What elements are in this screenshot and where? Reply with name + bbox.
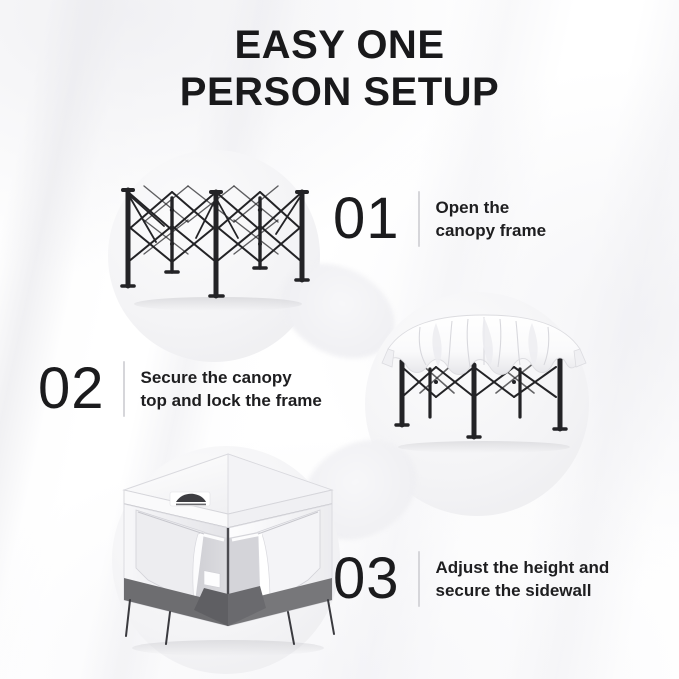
- step-row-02: 02 Secure the canopy top and lock the fr…: [38, 360, 322, 418]
- step-number-01: 01: [333, 190, 400, 248]
- step-text-03-line1: Adjust the height and: [436, 556, 610, 579]
- step-number-02: 02: [38, 360, 105, 418]
- canopy-top-illustration: [380, 305, 590, 455]
- step-text-01-line2: canopy frame: [436, 219, 547, 242]
- step-text-03: Adjust the height and secure the sidewal…: [436, 556, 610, 602]
- step-text-01-line1: Open the: [436, 196, 547, 219]
- step-text-02-line1: Secure the canopy: [141, 366, 322, 389]
- title-line-1: EASY ONE: [0, 22, 679, 69]
- step-row-01: 01 Open the canopy frame: [333, 190, 546, 248]
- infographic-canvas: EASY ONE PERSON SETUP: [0, 0, 679, 679]
- title-line-2: PERSON SETUP: [0, 69, 679, 116]
- canopy-frame-illustration: [110, 168, 330, 313]
- step-text-03-line2: secure the sidewall: [436, 579, 610, 602]
- assembled-canopy-illustration: [108, 448, 348, 660]
- brand-logo-patch: [170, 492, 210, 506]
- step-text-02: Secure the canopy top and lock the frame: [141, 366, 322, 412]
- step-divider-01: [418, 191, 420, 247]
- step-text-01: Open the canopy frame: [436, 196, 547, 242]
- step-divider-02: [123, 361, 125, 417]
- step-text-02-line2: top and lock the frame: [141, 389, 322, 412]
- step-divider-03: [418, 551, 420, 607]
- step-number-03: 03: [333, 550, 400, 608]
- page-title: EASY ONE PERSON SETUP: [0, 22, 679, 116]
- step-row-03: 03 Adjust the height and secure the side…: [333, 550, 609, 608]
